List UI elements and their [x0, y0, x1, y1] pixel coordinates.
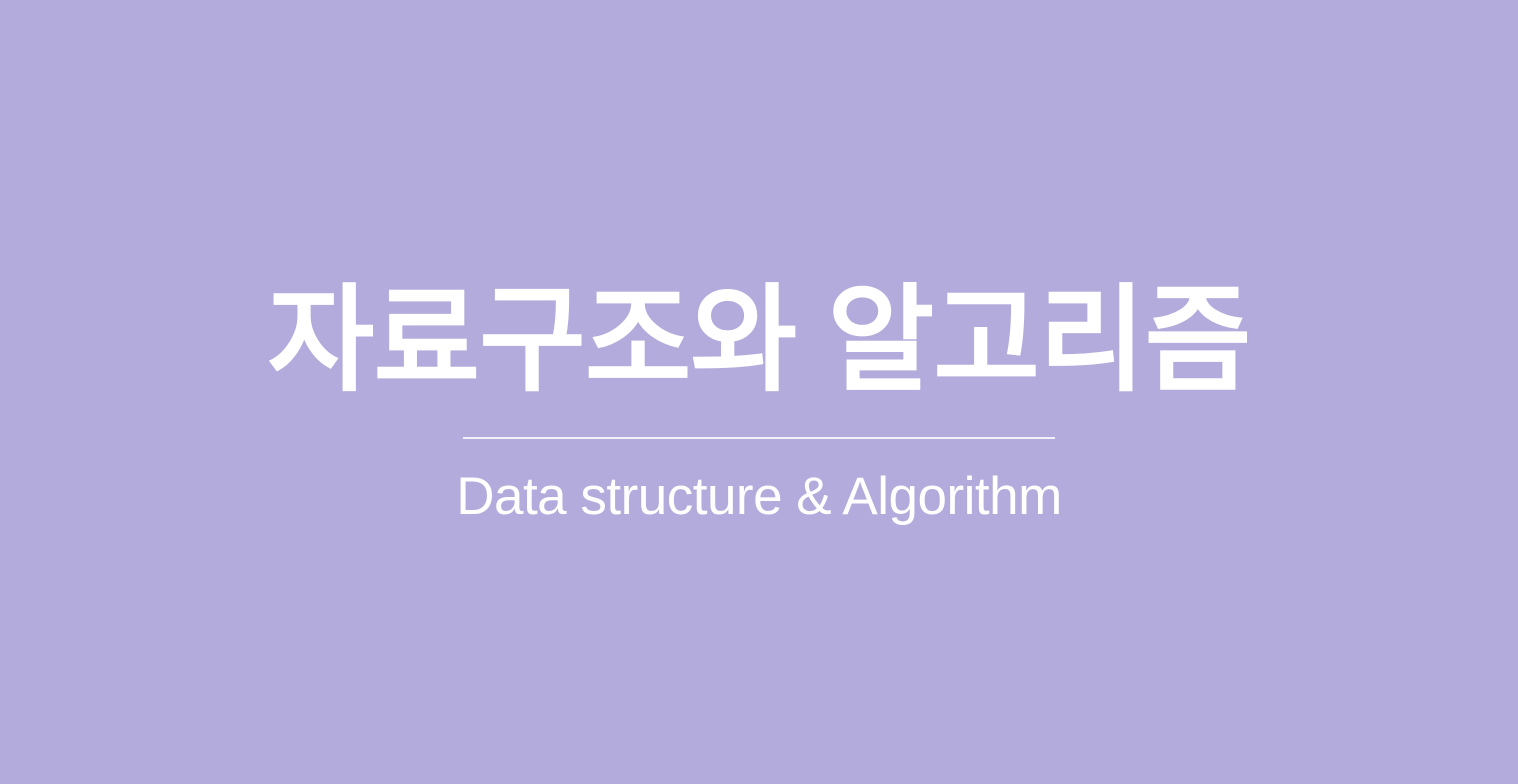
page-subtitle: Data structure & Algorithm [456, 468, 1062, 526]
title-block: 자료구조와 알고리즘 Data structure & Algorithm [0, 276, 1518, 526]
title-slide: 자료구조와 알고리즘 Data structure & Algorithm [0, 0, 1518, 784]
page-title: 자료구조와 알고리즘 [268, 276, 1251, 406]
title-divider [463, 437, 1055, 439]
